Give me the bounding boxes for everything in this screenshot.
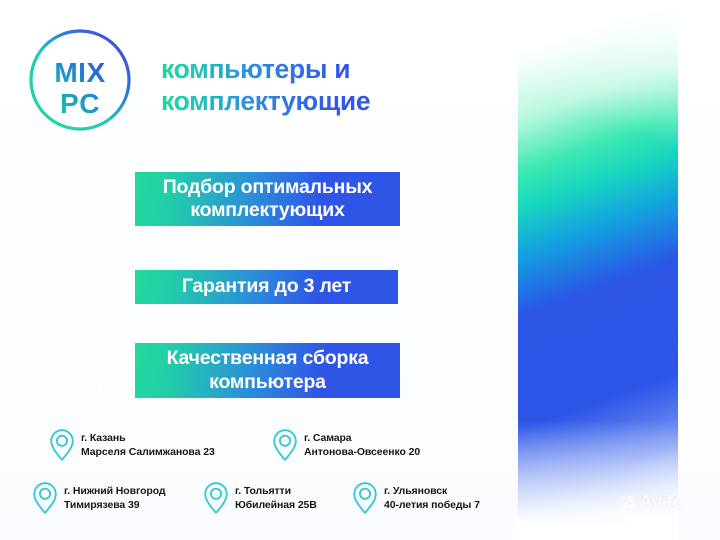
promo-benefit-tradein: Услуга trade-in: [0, 293, 160, 333]
brand-headline: компьютеры и комплектующие: [161, 53, 501, 118]
promo-benefit-line: довольных: [0, 227, 160, 247]
avito-dots-icon: [620, 495, 636, 511]
feature-badge-line: комплектующих: [163, 199, 373, 222]
location-address: г. Ульяновск 40-летия победы 7: [384, 484, 480, 512]
map-pin-icon: [49, 428, 75, 462]
feature-badge-line: компьютера: [167, 371, 369, 394]
promo-benefit-clients: 10.000+ довольных Клиентов: [0, 208, 160, 267]
location-street: Марселя Салимжанова 23: [81, 445, 215, 459]
feature-badge-components: Подбор оптимальных комплектующих: [135, 172, 400, 226]
location-city: г. Казань: [81, 431, 215, 445]
promo-panel-bottom-fade: [518, 420, 678, 540]
feature-badge-line: Качественная сборка: [167, 347, 369, 370]
promo-benefit-line: Бесплатная: [0, 142, 160, 162]
map-pin-icon: [272, 428, 298, 462]
location-city: г. Самара: [304, 431, 420, 445]
promo-benefit-consultation: Бесплатная консультация: [0, 142, 160, 182]
location-city: г. Нижний Новгород: [64, 484, 165, 498]
map-pin-icon: [32, 481, 58, 515]
promo-benefit-line: Кредит и: [0, 359, 160, 379]
promo-benefit-line: trade-in: [0, 313, 160, 333]
promo-banner: Бесплатная консультация 10.000+ довольны…: [0, 0, 720, 540]
promo-benefit-line: 10.000+: [0, 208, 160, 228]
mixpc-logo-icon: MIX PC: [27, 27, 133, 133]
feature-badge-warranty: Гарантия до 3 лет: [135, 270, 398, 304]
location-city: г. Тольятти: [235, 484, 317, 498]
svg-text:MIX: MIX: [54, 57, 105, 88]
location-address: г. Казань Марселя Салимжанова 23: [81, 431, 215, 459]
feature-badge-line: Подбор оптимальных: [163, 176, 373, 199]
promo-panel-top-fade: [518, 0, 678, 150]
feature-badge-assembly: Качественная сборка компьютера: [135, 343, 400, 398]
avito-wordmark: Avito: [639, 492, 684, 514]
avito-watermark: Avito: [620, 492, 684, 514]
location-street: 40-летия победы 7: [384, 498, 480, 512]
location-address: г. Тольятти Юбилейная 25В: [235, 484, 317, 512]
brand-headline-line2: комплектующие: [161, 85, 501, 117]
location-address: г. Нижний Новгород Тимирязева 39: [64, 484, 165, 512]
location-address: г. Самара Антонова-Овсеенко 20: [304, 431, 420, 459]
brand-headline-line1: компьютеры и: [161, 53, 501, 85]
location-nizhny-novgorod: г. Нижний Новгород Тимирязева 39: [32, 481, 165, 515]
promo-benefit-line: консультация: [0, 162, 160, 182]
location-tolyatti: г. Тольятти Юбилейная 25В: [203, 481, 317, 515]
location-street: Юбилейная 25В: [235, 498, 317, 512]
svg-text:PC: PC: [60, 88, 100, 119]
location-city: г. Ульяновск: [384, 484, 480, 498]
location-kazan: г. Казань Марселя Салимжанова 23: [49, 428, 215, 462]
feature-badge-line: Гарантия до 3 лет: [182, 275, 351, 298]
location-street: Тимирязева 39: [64, 498, 165, 512]
promo-benefit-line: рассрочка: [0, 379, 160, 399]
location-street: Антонова-Овсеенко 20: [304, 445, 420, 459]
promo-panel: [518, 0, 678, 540]
map-pin-icon: [352, 481, 378, 515]
location-samara: г. Самара Антонова-Овсеенко 20: [272, 428, 420, 462]
map-pin-icon: [203, 481, 229, 515]
promo-benefit-line: Клиентов: [0, 247, 160, 267]
location-ulyanovsk: г. Ульяновск 40-летия победы 7: [352, 481, 480, 515]
promo-benefit-credit: Кредит и рассрочка: [0, 359, 160, 399]
promo-benefit-line: Услуга: [0, 293, 160, 313]
promo-benefit-list: Бесплатная консультация 10.000+ довольны…: [0, 142, 160, 398]
